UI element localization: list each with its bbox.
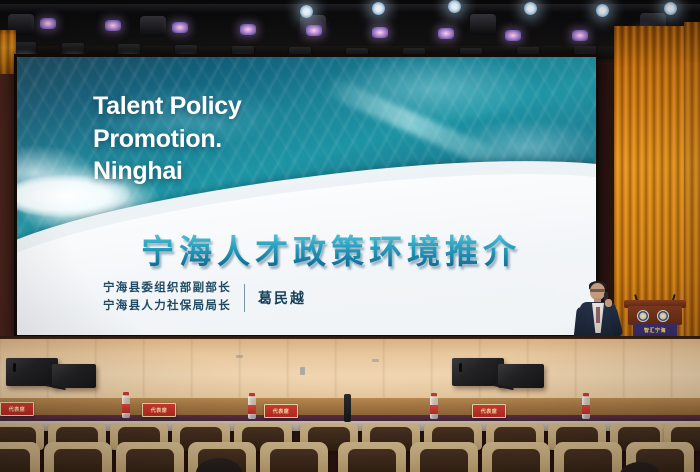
slide-title-english: Talent Policy Promotion. Ninghai bbox=[93, 90, 241, 188]
slide-subtitle-block: 宁海县委组织部副部长 宁海县人力社保局局长 葛民越 bbox=[103, 280, 306, 316]
water-bottle bbox=[248, 393, 256, 419]
spot-light bbox=[596, 4, 609, 17]
audience-seat[interactable] bbox=[44, 442, 112, 472]
color-wash-light bbox=[172, 22, 188, 33]
spot-light bbox=[524, 2, 537, 15]
audience-seat[interactable] bbox=[0, 442, 40, 472]
water-bottle bbox=[430, 393, 438, 419]
spot-light bbox=[448, 0, 461, 13]
color-wash-light bbox=[572, 30, 588, 41]
color-wash-light bbox=[438, 28, 454, 39]
stage-curtain-far-right bbox=[684, 22, 700, 374]
podium-banner-line1: 智汇宁海 bbox=[633, 327, 677, 334]
presenter-tie bbox=[596, 307, 600, 323]
delegate-name-card: 代表席 bbox=[142, 403, 176, 417]
color-wash-light bbox=[306, 25, 322, 36]
name-card-text: 代表席 bbox=[1, 406, 33, 413]
floor-marking bbox=[300, 367, 305, 375]
stage-monitor-speaker bbox=[52, 364, 96, 388]
moving-head-light bbox=[470, 14, 496, 35]
audience-seat[interactable] bbox=[116, 442, 184, 472]
slide-speaker-name: 葛民越 bbox=[258, 288, 306, 308]
audience-seat[interactable] bbox=[260, 442, 328, 472]
delegate-name-card: 代表席 bbox=[0, 402, 34, 416]
slide-title-en-line3: Ninghai bbox=[93, 155, 241, 188]
presenter-glasses bbox=[590, 289, 605, 292]
spot-light bbox=[372, 2, 385, 15]
subtitle-role-line1: 宁海县委组织部副部长 bbox=[103, 280, 231, 298]
slide-title-en-line2: Promotion. bbox=[93, 123, 241, 156]
audience-seating bbox=[0, 424, 700, 472]
stage-monitor-speaker bbox=[452, 358, 504, 386]
slide-title-en-line1: Talent Policy bbox=[93, 90, 241, 123]
color-wash-light bbox=[505, 30, 521, 41]
slide-title-chinese: 宁海人才政策环境推介 bbox=[96, 225, 566, 273]
ceiling-light-truss bbox=[0, 0, 700, 62]
podium-emblem-icon bbox=[637, 310, 649, 322]
auditorium-stage-photo: Talent Policy Promotion. Ninghai 宁海人才政策环… bbox=[0, 0, 700, 472]
moving-head-light bbox=[140, 16, 166, 37]
truss-beam-upper bbox=[0, 4, 700, 13]
led-presentation-screen[interactable]: Talent Policy Promotion. Ninghai 宁海人才政策环… bbox=[17, 57, 596, 335]
stage-monitor-speaker bbox=[6, 358, 58, 386]
subtitle-role-line2: 宁海县人力社保局局长 bbox=[103, 298, 231, 316]
stage-monitor-speaker bbox=[498, 364, 544, 388]
color-wash-light bbox=[40, 18, 56, 29]
water-bottle bbox=[582, 393, 590, 419]
subtitle-divider bbox=[244, 284, 245, 312]
desk-microphone bbox=[344, 394, 351, 422]
name-card-text: 代表席 bbox=[265, 408, 297, 415]
delegate-name-card: 代表席 bbox=[264, 404, 298, 418]
water-bottle bbox=[122, 392, 130, 418]
spot-light bbox=[300, 5, 313, 18]
spot-light bbox=[664, 2, 677, 15]
delegate-name-card: 代表席 bbox=[472, 404, 506, 418]
audience-seat[interactable] bbox=[482, 442, 550, 472]
color-wash-light bbox=[240, 24, 256, 35]
presenter-hand bbox=[605, 299, 612, 307]
floor-marking bbox=[236, 355, 243, 358]
audience-seat[interactable] bbox=[554, 442, 622, 472]
slide-subtitle-roles: 宁海县委组织部副部长 宁海县人力社保局局长 bbox=[103, 280, 231, 316]
color-wash-light bbox=[372, 27, 388, 38]
name-card-text: 代表席 bbox=[143, 407, 175, 414]
floor-marking bbox=[372, 359, 379, 362]
podium-emblem-icon bbox=[657, 310, 669, 322]
color-wash-light bbox=[105, 20, 121, 31]
audience-seat[interactable] bbox=[410, 442, 478, 472]
name-card-text: 代表席 bbox=[473, 408, 505, 415]
audience-seat[interactable] bbox=[338, 442, 406, 472]
